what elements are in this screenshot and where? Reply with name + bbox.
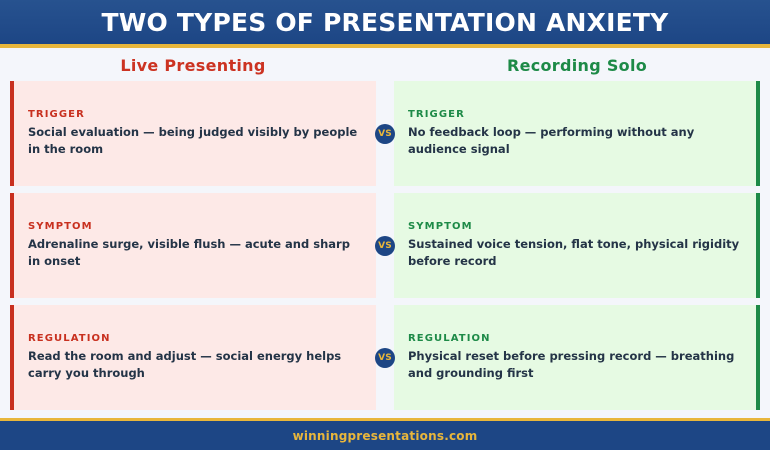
card-label: TRIGGER <box>408 109 742 120</box>
card-label: REGULATION <box>408 333 742 344</box>
vs-badge-icon: VS <box>375 236 395 256</box>
vs-badge-icon: VS <box>375 124 395 144</box>
card-text: Social evaluation — being judged visibly… <box>28 124 362 157</box>
card-right-symptom: SYMPTOM Sustained voice tension, flat to… <box>394 193 760 298</box>
row-divider: VS <box>376 81 394 186</box>
page-title: TWO TYPES OF PRESENTATION ANXIETY <box>102 8 669 37</box>
card-left-regulation: REGULATION Read the room and adjust — so… <box>10 305 376 410</box>
column-heading-spacer <box>376 56 394 75</box>
card-text: Adrenaline surge, visible flush — acute … <box>28 236 362 269</box>
row-divider: VS <box>376 193 394 298</box>
card-text: Sustained voice tension, flat tone, phys… <box>408 236 742 269</box>
comparison-rows: TRIGGER Social evaluation — being judged… <box>0 81 770 410</box>
card-text: Read the room and adjust — social energy… <box>28 348 362 381</box>
column-heading-right: Recording Solo <box>394 56 760 75</box>
card-right-regulation: REGULATION Physical reset before pressin… <box>394 305 760 410</box>
comparison-row: REGULATION Read the room and adjust — so… <box>10 305 760 410</box>
card-right-trigger: TRIGGER No feedback loop — performing wi… <box>394 81 760 186</box>
row-divider: VS <box>376 305 394 410</box>
column-heading-left: Live Presenting <box>10 56 376 75</box>
card-label: SYMPTOM <box>28 221 362 232</box>
footer-website-label: winningpresentations.com <box>293 429 478 443</box>
comparison-row: TRIGGER Social evaluation — being judged… <box>10 81 760 186</box>
page-header: TWO TYPES OF PRESENTATION ANXIETY <box>0 0 770 48</box>
card-text: Physical reset before pressing record — … <box>408 348 742 381</box>
card-label: TRIGGER <box>28 109 362 120</box>
card-label: SYMPTOM <box>408 221 742 232</box>
card-left-symptom: SYMPTOM Adrenaline surge, visible flush … <box>10 193 376 298</box>
column-headings: Live Presenting Recording Solo <box>0 48 770 81</box>
card-left-trigger: TRIGGER Social evaluation — being judged… <box>10 81 376 186</box>
card-text: No feedback loop — performing without an… <box>408 124 742 157</box>
card-label: REGULATION <box>28 333 362 344</box>
page-footer: winningpresentations.com <box>0 418 770 450</box>
vs-badge-icon: VS <box>375 348 395 368</box>
comparison-row: SYMPTOM Adrenaline surge, visible flush … <box>10 193 760 298</box>
